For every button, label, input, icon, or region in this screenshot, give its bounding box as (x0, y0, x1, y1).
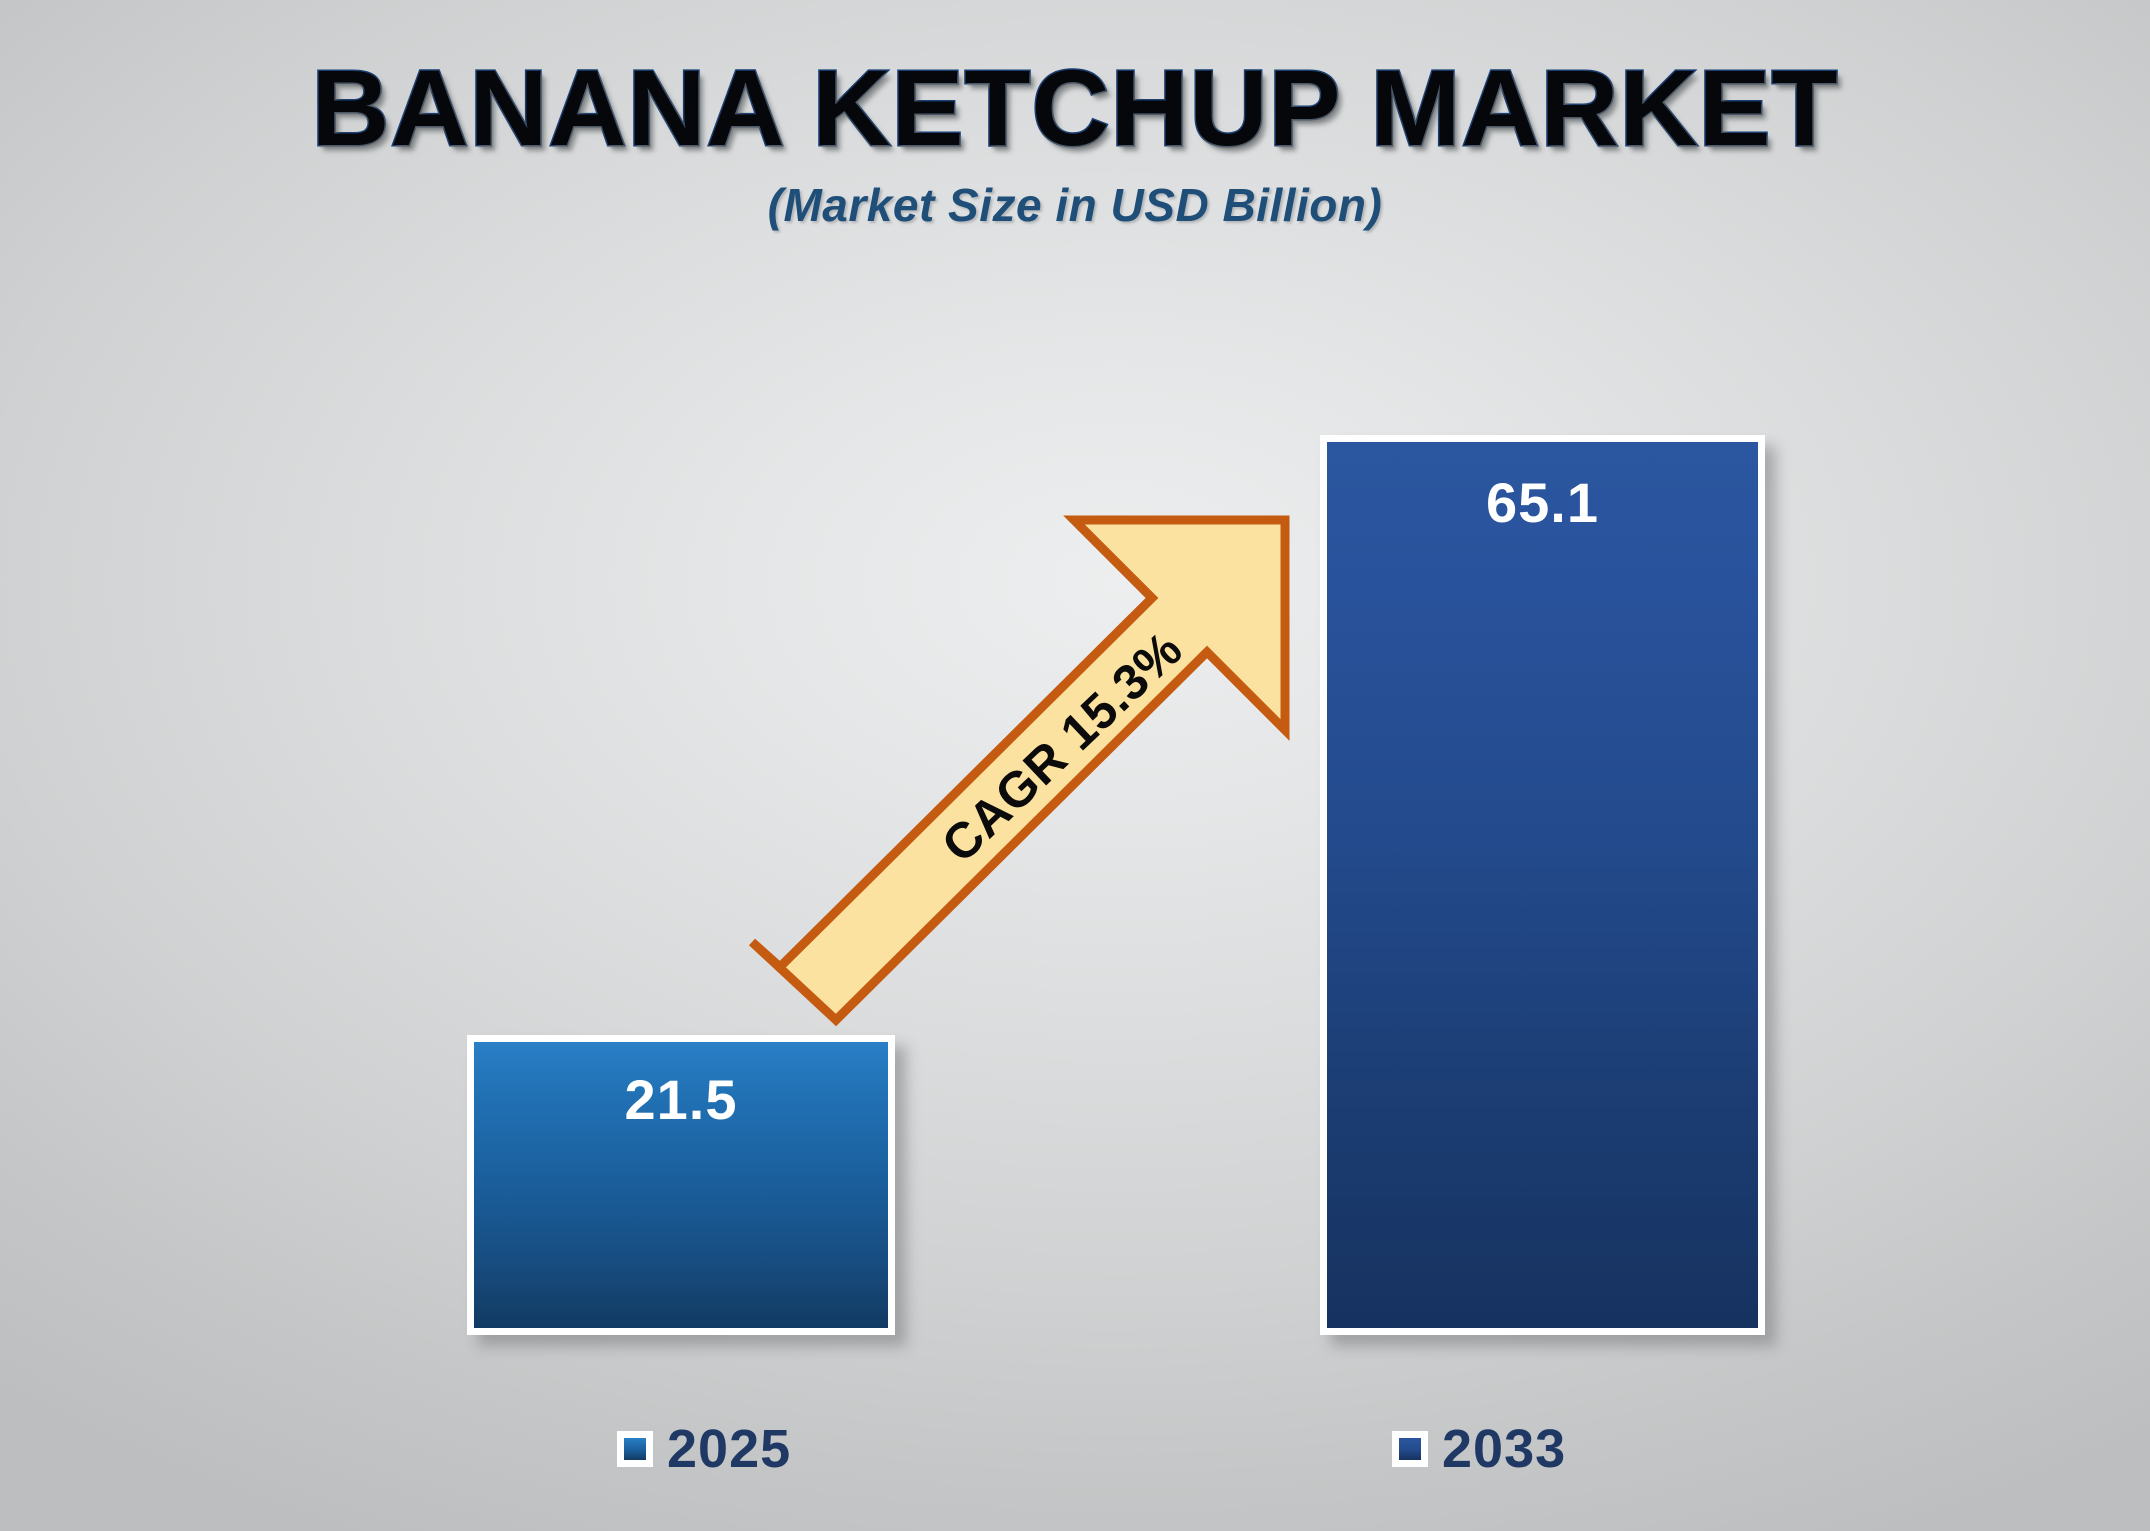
bar-value-2025: 21.5 (474, 1067, 888, 1132)
legend-square-icon (1392, 1431, 1428, 1467)
bar-value-2033: 65.1 (1327, 470, 1758, 535)
bar-2033: 65.1 (1320, 435, 1765, 1335)
legend-item-2025[interactable]: 2025 (617, 1418, 791, 1480)
chart-subtitle: (Market Size in USD Billion) (0, 178, 2150, 232)
legend-square-icon (617, 1431, 653, 1467)
legend-label-2025: 2025 (667, 1418, 791, 1480)
legend-label-2033: 2033 (1442, 1418, 1566, 1480)
chart-canvas: BANANA KETCHUP MARKET (Market Size in US… (0, 0, 2150, 1531)
bar-2025: 21.5 (467, 1035, 895, 1335)
title-block: BANANA KETCHUP MARKET (Market Size in US… (0, 52, 2150, 232)
page-title: BANANA KETCHUP MARKET (0, 52, 2150, 164)
legend-item-2033[interactable]: 2033 (1392, 1418, 1566, 1480)
cagr-label: CAGR 15.3% (911, 602, 1212, 892)
legend: 2025 2033 (0, 1418, 2150, 1508)
